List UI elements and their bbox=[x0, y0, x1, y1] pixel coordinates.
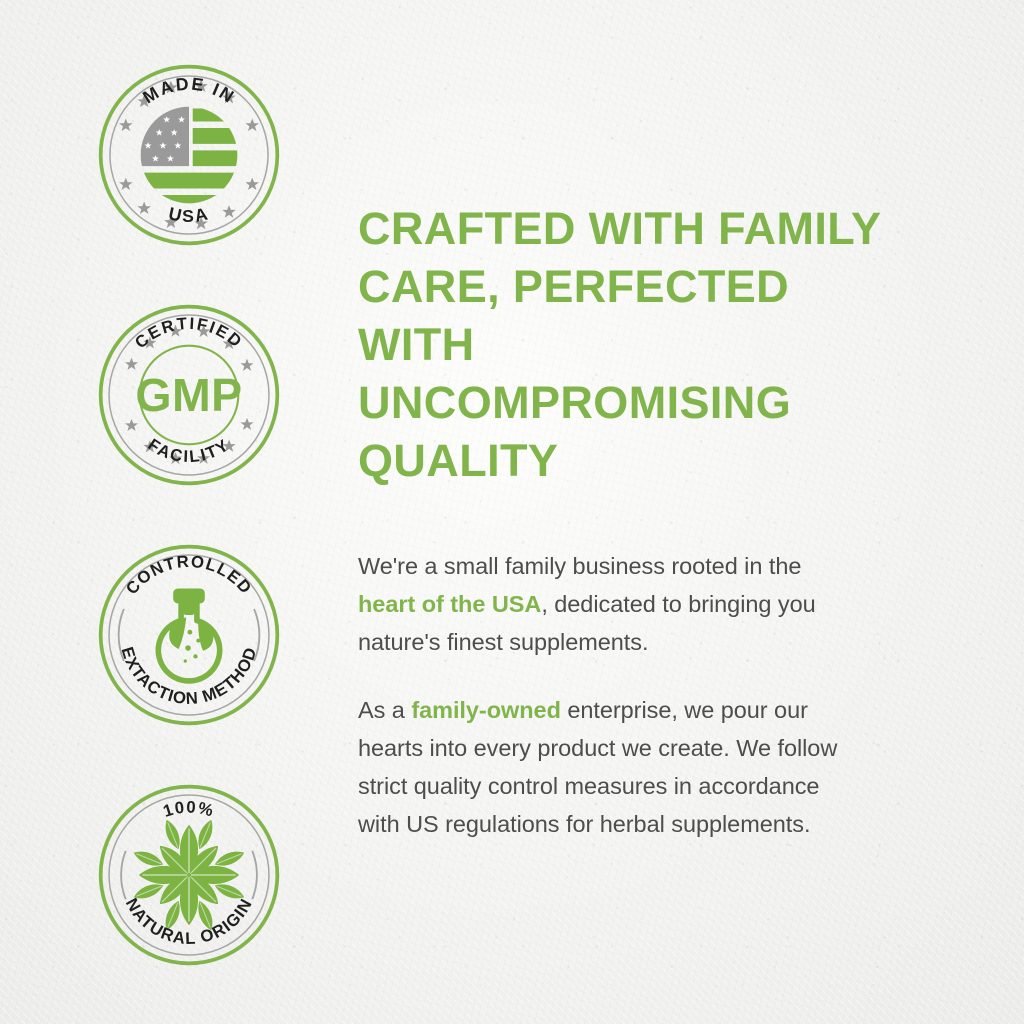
badge-controlled-extraction-method: CONTROLLED EXTACTION METHOD bbox=[96, 542, 282, 728]
badge-bottom-text: EXTACTION METHOD bbox=[118, 645, 261, 708]
badge-bottom-text: FACILITY bbox=[145, 435, 234, 466]
gmp-text-emblem: GMP bbox=[135, 369, 242, 421]
body-copy: We're a small family business rooted in … bbox=[358, 547, 918, 843]
badge-natural-origin: 100% NATURAL ORIGIN bbox=[96, 782, 282, 968]
badge-gmp-certified-facility: GMP CERTIFIED FACILITY bbox=[96, 302, 282, 488]
badge-top-text: 100% bbox=[161, 798, 217, 821]
body-paragraph: We're a small family business rooted in … bbox=[358, 547, 858, 661]
badge-made-in-usa: MADE IN USA bbox=[96, 62, 282, 248]
text-content-column: CRAFTED WITH FAMILY CARE, PERFECTED WITH… bbox=[358, 200, 918, 843]
body-paragraph: As a family-owned enterprise, we pour ou… bbox=[358, 691, 858, 843]
badge-top-text: MADE IN bbox=[139, 74, 239, 108]
trust-badge-column: MADE IN USA bbox=[96, 62, 292, 968]
flask-with-leaves-icon bbox=[158, 589, 219, 681]
right-accent-arc bbox=[252, 851, 257, 899]
paragraph-text: We're a small family business rooted in … bbox=[358, 553, 801, 579]
page-title: CRAFTED WITH FAMILY CARE, PERFECTED WITH… bbox=[358, 200, 910, 490]
highlighted-phrase: family-owned bbox=[411, 697, 561, 723]
paragraph-text: As a bbox=[358, 697, 411, 723]
promotional-panel: MADE IN USA bbox=[0, 0, 1024, 1024]
left-accent-arc bbox=[121, 851, 126, 899]
badge-bottom-text: USA bbox=[167, 203, 212, 226]
highlighted-phrase: heart of the USA bbox=[358, 591, 541, 617]
usa-flag-circle-icon bbox=[141, 107, 242, 209]
